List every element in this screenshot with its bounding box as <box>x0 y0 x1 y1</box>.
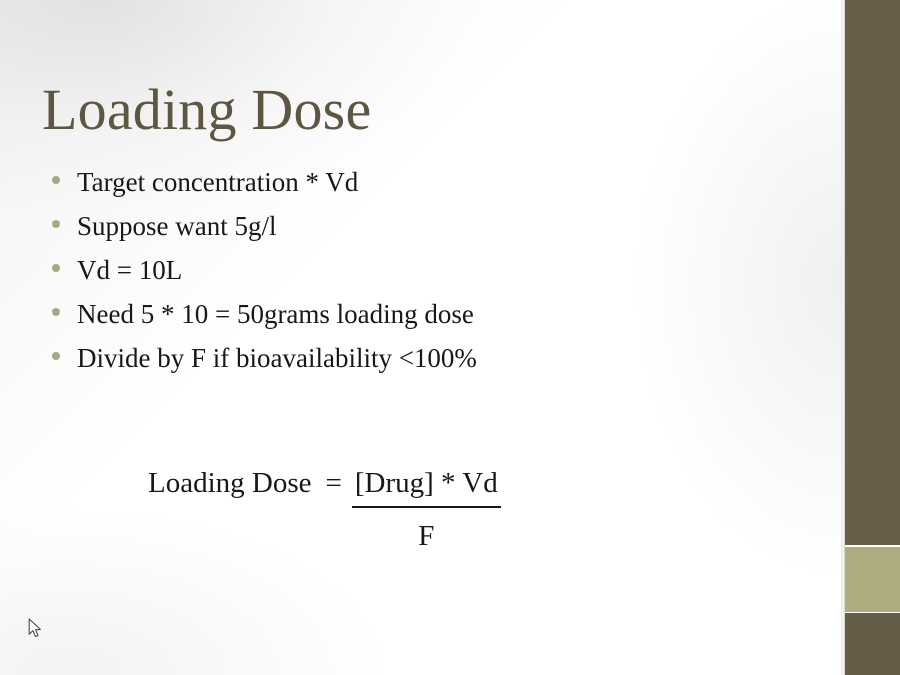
bullet-item-5: Divide by F if bioavailability <100% <box>52 336 772 380</box>
bullet-text-2: Suppose want 5g/l <box>77 204 277 248</box>
bullet-dot-icon <box>52 308 60 316</box>
formula-fraction: [Drug] * Vd F <box>352 462 501 557</box>
bullet-dot-icon <box>52 264 60 272</box>
sidebar-segment-top <box>845 0 900 545</box>
presentation-slide: Loading Dose Target concentration * Vd S… <box>0 0 900 675</box>
bullet-item-2: Suppose want 5g/l <box>52 204 772 248</box>
loading-dose-formula: Loading Dose = [Drug] * Vd F <box>148 462 501 557</box>
bullet-dot-icon <box>52 352 60 360</box>
bullet-list: Target concentration * Vd Suppose want 5… <box>52 160 772 380</box>
bullet-dot-icon <box>52 220 60 228</box>
sidebar-segment-bottom <box>845 613 900 675</box>
formula-denominator: F <box>418 508 434 557</box>
bullet-item-3: Vd = 10L <box>52 248 772 292</box>
arrow-cursor-icon <box>28 618 44 640</box>
bullet-text-3: Vd = 10L <box>77 248 182 292</box>
slide-title: Loading Dose <box>42 80 371 141</box>
sidebar-segment-middle <box>845 547 900 612</box>
bullet-text-4: Need 5 * 10 = 50grams loading dose <box>77 292 474 336</box>
formula-left-side: Loading Dose <box>148 462 326 504</box>
formula-equals-sign: = <box>326 462 352 504</box>
bullet-text-5: Divide by F if bioavailability <100% <box>77 336 477 380</box>
formula-numerator: [Drug] * Vd <box>352 462 501 506</box>
bullet-item-1: Target concentration * Vd <box>52 160 772 204</box>
bullet-dot-icon <box>52 176 60 184</box>
bullet-item-4: Need 5 * 10 = 50grams loading dose <box>52 292 772 336</box>
sidebar-decoration <box>845 0 900 675</box>
bullet-text-1: Target concentration * Vd <box>77 160 358 204</box>
